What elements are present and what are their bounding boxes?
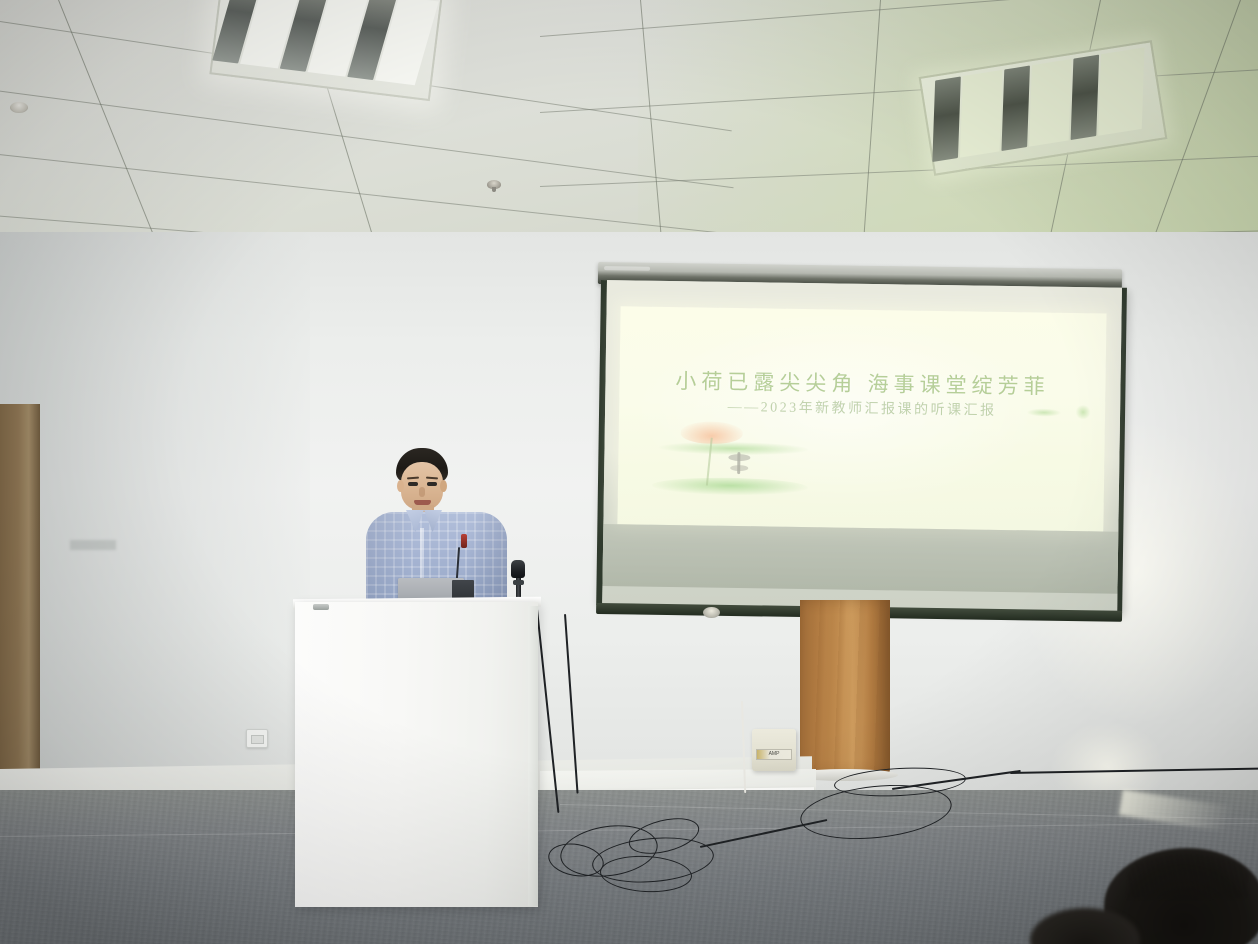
floor-amplifier-box: AMP — [752, 729, 796, 771]
screen-lower-shadow — [602, 524, 1118, 594]
amp-box-label: AMP — [756, 749, 792, 760]
lotus-leaf-bottom — [652, 477, 808, 496]
lecture-hall-photo: 小荷已露尖尖角 海事课堂绽芳菲 ——2023年新教师汇报课的听课汇报 — [0, 0, 1258, 944]
wall-left-shading — [0, 232, 310, 792]
clip-on-microphone — [461, 534, 467, 548]
projected-slide: 小荷已露尖尖角 海事课堂绽芳菲 ——2023年新教师汇报课的听课汇报 — [617, 306, 1106, 531]
podium-microphone[interactable] — [511, 560, 525, 578]
ceiling-projector-mount-plate — [703, 607, 720, 618]
wall-power-outlet — [246, 729, 268, 748]
screen-housing-highlight — [604, 266, 650, 271]
microphone-collar — [513, 580, 524, 585]
fire-sprinkler-head — [487, 180, 501, 189]
presenter-nose — [419, 487, 425, 497]
slide-leaf-accent-2 — [1075, 405, 1091, 419]
lectern-right-edge — [528, 606, 538, 906]
pull-down-projection-screen[interactable]: 小荷已露尖尖角 海事课堂绽芳菲 ——2023年新教师汇报课的听课汇报 — [596, 280, 1127, 613]
presenter-eye-right — [427, 482, 437, 486]
ceiling-speaker — [10, 102, 28, 113]
wall-marking — [70, 540, 116, 550]
dragonfly-icon — [726, 450, 752, 476]
presenter-ear-left — [397, 480, 404, 492]
wood-grain-texture — [800, 600, 890, 775]
presenter-eye-left — [408, 482, 418, 486]
white-lectern — [295, 602, 538, 907]
lotus-illustration — [646, 415, 847, 513]
ceiling-light-panel-left — [209, 0, 442, 101]
audience-hair-strands — [1128, 854, 1248, 898]
wooden-door-frame[interactable] — [0, 404, 40, 809]
lectern-clip — [313, 604, 329, 610]
presenter-ear-right — [440, 480, 447, 492]
wall-light-glare-lower — [1028, 690, 1188, 800]
wood-clad-column — [800, 600, 890, 775]
